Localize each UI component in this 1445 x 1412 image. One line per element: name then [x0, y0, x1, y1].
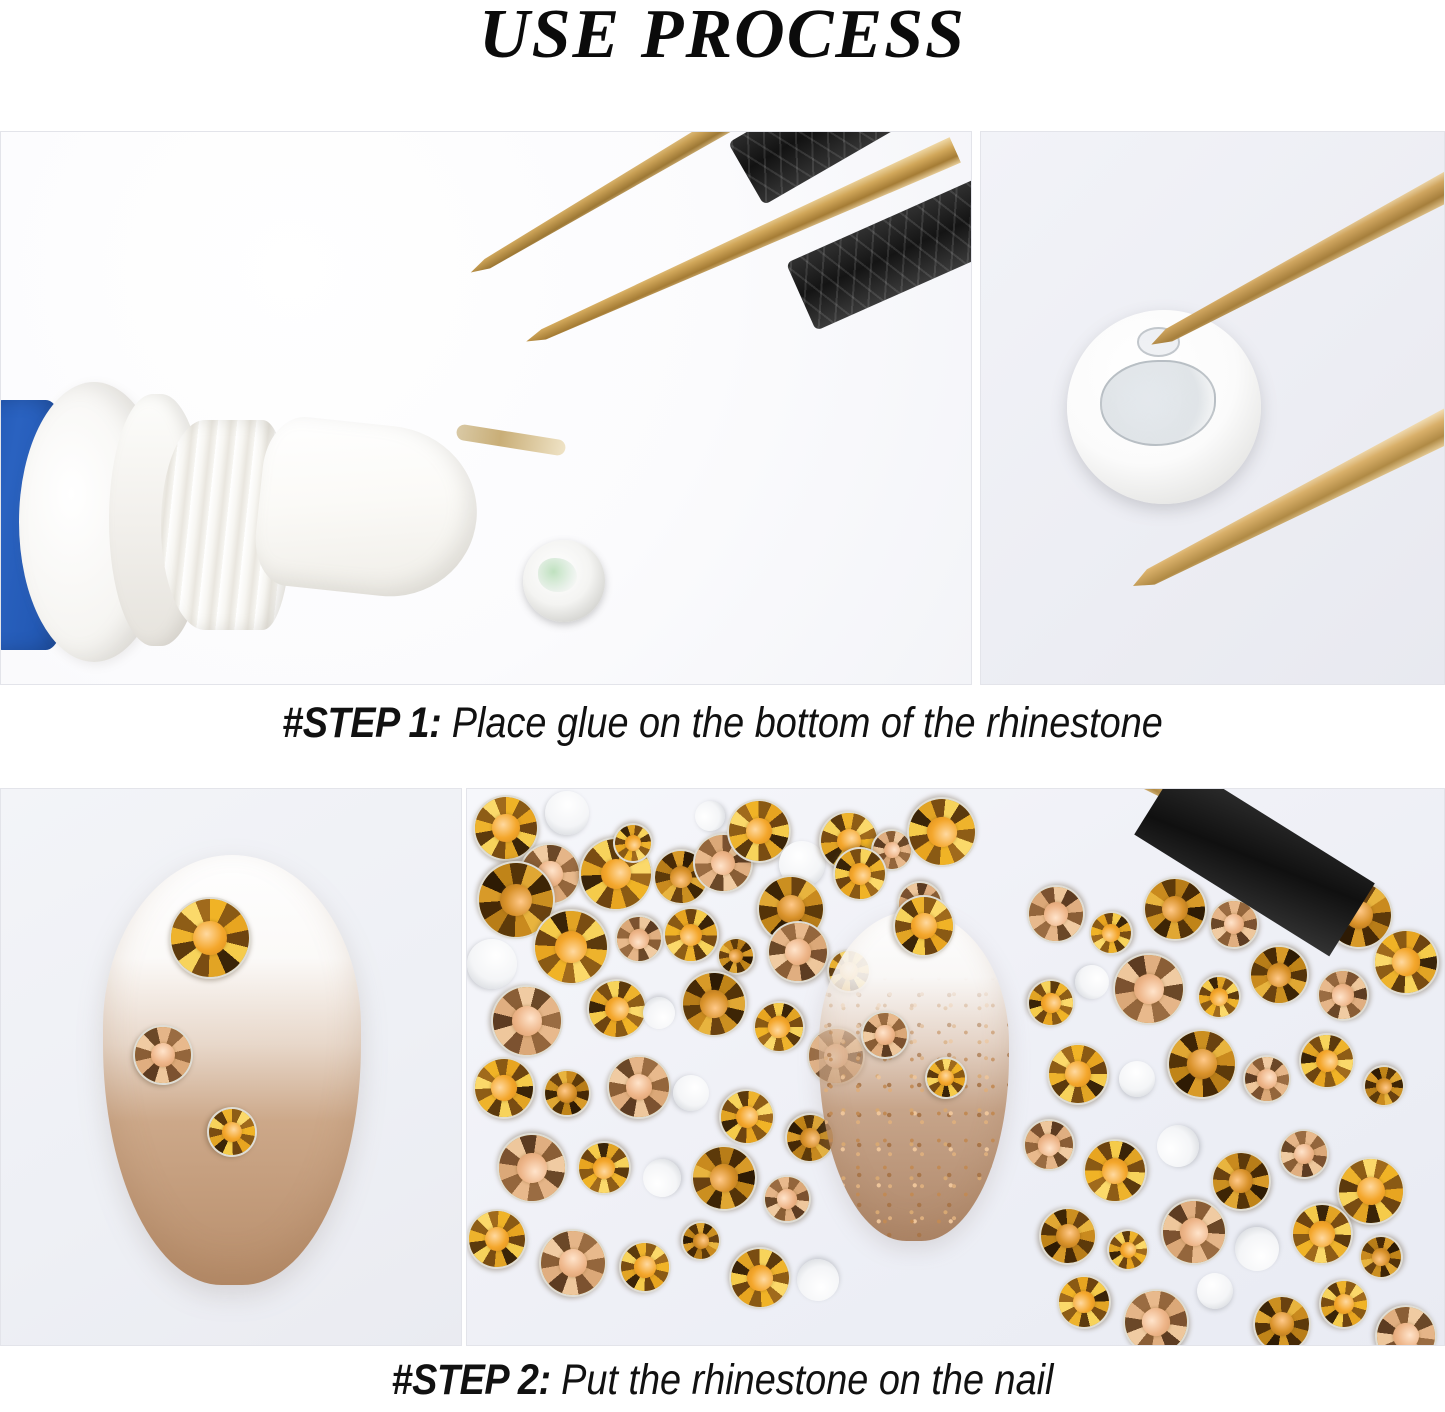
- step-2-label: #STEP 2:: [392, 1356, 551, 1404]
- step-2-photo-row: [0, 788, 1445, 1346]
- step-2-text: Put the rhinestone on the nail: [551, 1356, 1054, 1404]
- decorated-nail-photo: [0, 788, 462, 1346]
- infographic-page: USE PROCESS #STEP 1: [0, 0, 1445, 1412]
- step-1-photo-row: [0, 131, 1445, 685]
- glue-bottle-and-tweezers-photo: [0, 131, 972, 685]
- nail-with-glitter: [819, 911, 1009, 1241]
- panel-gutter: [972, 131, 980, 685]
- glue-blob: [1100, 360, 1217, 445]
- step-2-caption: #STEP 2: Put the rhinestone on the nail: [87, 1356, 1359, 1405]
- step-1-label: #STEP 1:: [282, 699, 441, 747]
- rhinestone-flat-back: [523, 540, 605, 622]
- rhinestone: [169, 897, 251, 979]
- rhinestone-field-photo: [466, 788, 1445, 1346]
- rhinestone-with-glue-photo: [980, 131, 1445, 685]
- page-title: USE PROCESS: [0, 0, 1445, 73]
- step-1-caption: #STEP 1: Place glue on the bottom of the…: [87, 699, 1359, 748]
- glitter-gradient: [819, 911, 1009, 1241]
- step-1-text: Place glue on the bottom of the rhinesto…: [441, 699, 1163, 747]
- rhinestone: [861, 1011, 909, 1059]
